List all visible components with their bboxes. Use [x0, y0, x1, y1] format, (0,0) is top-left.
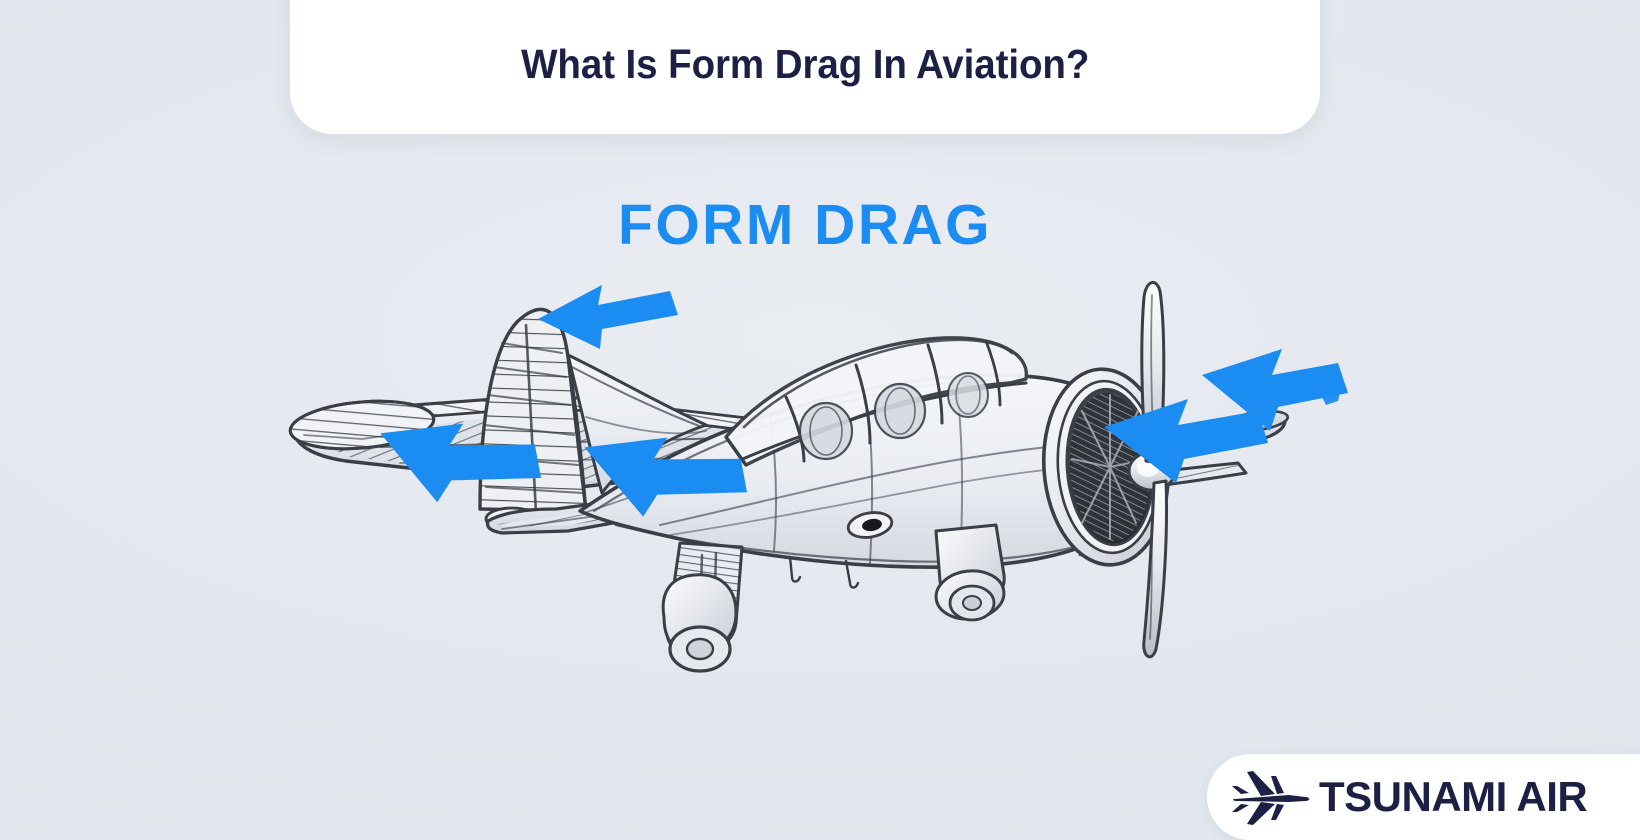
brand-logo-badge[interactable]: TSUNAMI AIR	[1207, 754, 1640, 840]
page-title: What Is Form Drag In Aviation?	[521, 41, 1089, 88]
page-root: What Is Form Drag In Aviation? FORM DRAG	[0, 0, 1640, 840]
title-card: What Is Form Drag In Aviation?	[290, 0, 1320, 134]
brand-name: TSUNAMI AIR	[1319, 773, 1587, 821]
airplane-illustration	[250, 225, 1390, 665]
airplane-diagram-svg	[250, 225, 1390, 665]
jet-aircraft-icon	[1231, 766, 1311, 828]
